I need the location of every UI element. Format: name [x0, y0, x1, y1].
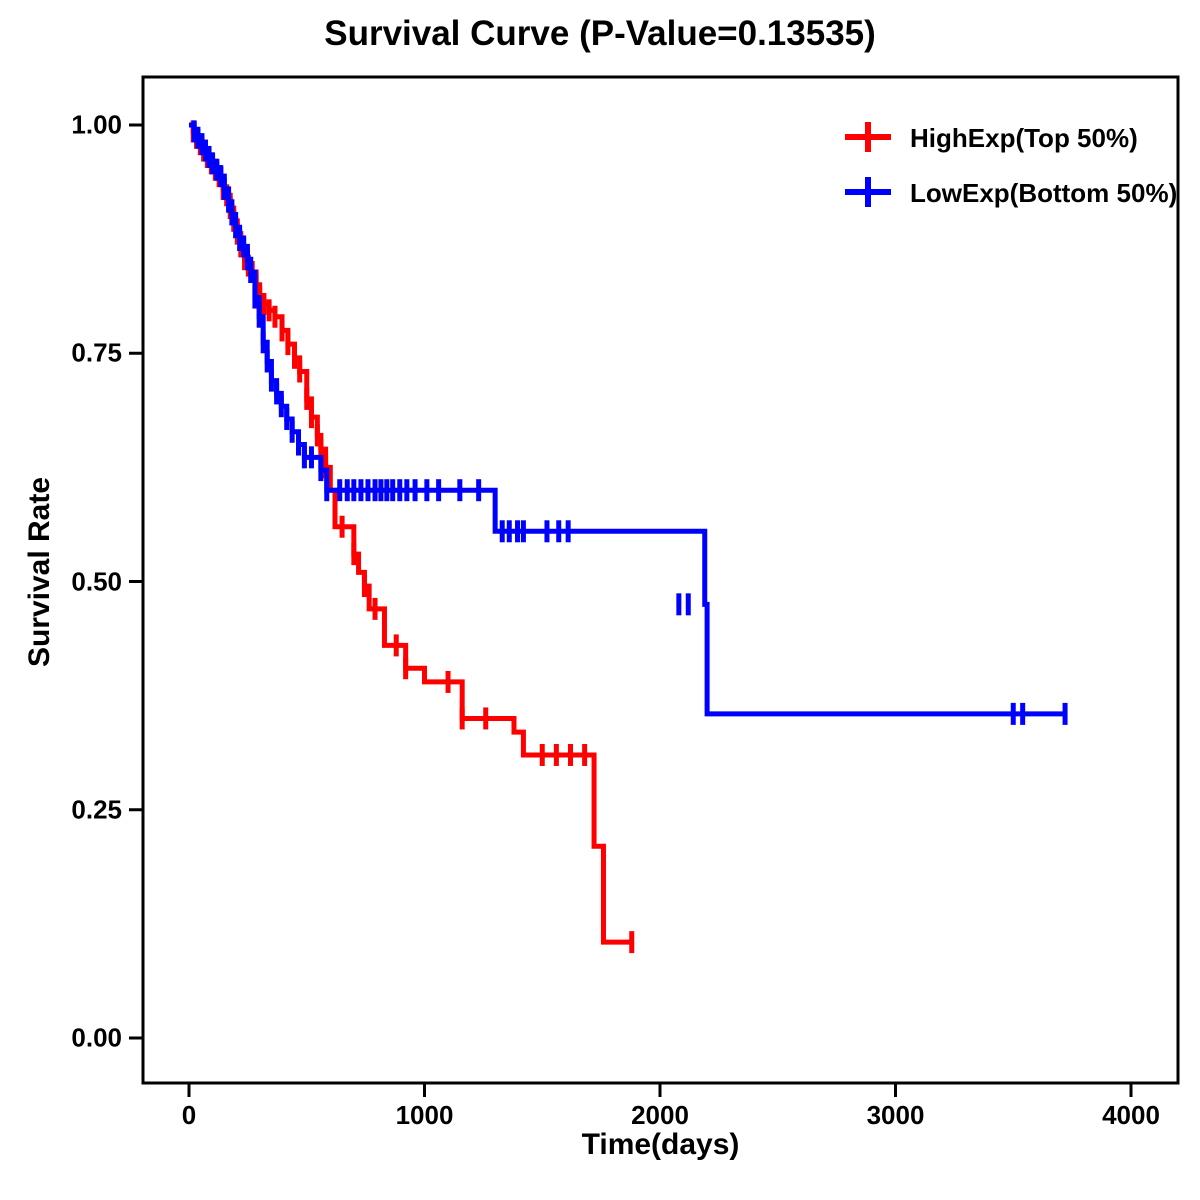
y-tick-label: 1.00 — [30, 110, 122, 141]
survival-curve-figure: Survival Curve (P-Value=0.13535) Surviva… — [0, 0, 1200, 1200]
y-tick-label: 0.50 — [30, 566, 122, 597]
legend-item-highexp[interactable]: HighExp(Top 50%) — [910, 123, 1138, 154]
x-tick-label: 1000 — [396, 1100, 454, 1131]
x-tick-label: 3000 — [867, 1100, 925, 1131]
x-tick-label: 2000 — [631, 1100, 689, 1131]
x-tick-label: 4000 — [1102, 1100, 1160, 1131]
legend-item-lowexp[interactable]: LowExp(Bottom 50%) — [910, 178, 1177, 209]
x-tick-label: 0 — [182, 1100, 196, 1131]
y-tick-label: 0.00 — [30, 1023, 122, 1054]
panel-border — [143, 77, 1178, 1083]
y-tick-label: 0.75 — [30, 338, 122, 369]
y-tick-label: 0.25 — [30, 794, 122, 825]
survival-step-line-lowexp — [189, 125, 1065, 714]
legend-markers — [845, 122, 891, 207]
series-layer — [189, 120, 1065, 953]
